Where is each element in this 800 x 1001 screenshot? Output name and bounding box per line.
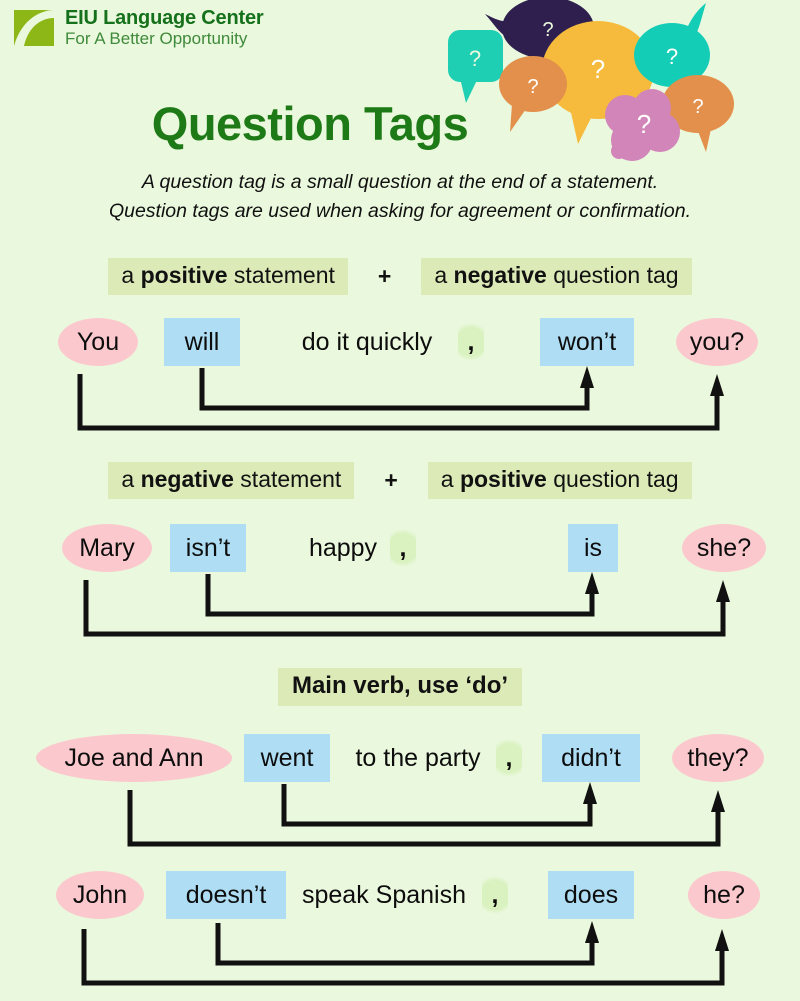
- rule-2-left-strong: negative: [141, 466, 234, 492]
- example-4-tag-verb: does: [548, 871, 634, 919]
- example-3-auxiliary: went: [244, 734, 330, 782]
- speech-bubble-teal-right: ?: [634, 3, 710, 87]
- speech-bubble-navy: ?: [485, 0, 594, 59]
- svg-text:?: ?: [591, 54, 605, 84]
- brand-logo: EIU Language Center For A Better Opportu…: [12, 6, 263, 50]
- example-joe-and-ann-went: Joe and Ann went to the party , didn’t t…: [0, 734, 800, 782]
- rule-1-right-strong: negative: [454, 262, 547, 288]
- example-john-doesnt: John doesn’t speak Spanish , does he?: [0, 871, 800, 919]
- example-1-tag-verb: won’t: [540, 318, 634, 366]
- rule-1-plus: +: [378, 263, 391, 290]
- example-2-comma: ,: [390, 524, 416, 572]
- example-1-tag-subject: you?: [676, 318, 758, 366]
- rule-2-right-strong: positive: [460, 466, 547, 492]
- rule-2-left-suffix: statement: [234, 466, 341, 492]
- example-3-tag-verb: didn’t: [542, 734, 640, 782]
- svg-text:?: ?: [692, 96, 703, 118]
- example-2-connectors: [0, 572, 800, 652]
- example-2-auxiliary: isn’t: [170, 524, 246, 572]
- example-4-comma: ,: [482, 871, 508, 919]
- rule-1-right-suffix: question tag: [547, 262, 679, 288]
- example-mary-isnt: Mary isn’t happy , is she?: [0, 524, 800, 572]
- example-3-tag-subject: they?: [672, 734, 764, 782]
- rule-1-left-suffix: statement: [228, 262, 335, 288]
- example-2-tag-verb: is: [568, 524, 618, 572]
- section-heading-main-verb: Main verb, use ‘do’: [0, 668, 800, 706]
- rule-positive-negative: a positive statement + a negative questi…: [0, 258, 800, 295]
- example-1-auxiliary: will: [164, 318, 240, 366]
- speech-bubble-teal-square: ?: [448, 30, 503, 103]
- rule-2-left-chip: a negative statement: [108, 462, 354, 499]
- rule-1-left-strong: positive: [141, 262, 228, 288]
- example-1-connectors: [0, 366, 800, 446]
- example-1-subject: You: [58, 318, 138, 366]
- example-4-predicate: speak Spanish: [286, 871, 482, 919]
- brand-tagline: For A Better Opportunity: [65, 30, 263, 48]
- page-subtitle: A question tag is a small question at th…: [0, 168, 800, 225]
- example-4-subject: John: [56, 871, 144, 919]
- rule-1-left-prefix: a: [121, 262, 140, 288]
- arch-logo-icon: [12, 6, 56, 50]
- example-2-tag-subject: she?: [682, 524, 766, 572]
- example-4-connectors: [0, 919, 800, 1001]
- svg-text:?: ?: [666, 44, 678, 69]
- svg-text:?: ?: [527, 76, 538, 98]
- svg-text:?: ?: [469, 46, 481, 71]
- example-1-comma: ,: [458, 318, 484, 366]
- rule-2-right-suffix: question tag: [547, 466, 679, 492]
- example-4-tag-subject: he?: [688, 871, 760, 919]
- rule-2-right-prefix: a: [441, 466, 460, 492]
- example-3-comma: ,: [496, 734, 522, 782]
- rule-1-right-prefix: a: [434, 262, 453, 288]
- subtitle-line-2: Question tags are used when asking for a…: [0, 197, 800, 226]
- rule-1-left-chip: a positive statement: [108, 258, 348, 295]
- svg-text:?: ?: [542, 19, 553, 41]
- rule-2-left-prefix: a: [121, 466, 140, 492]
- example-you-will: You will do it quickly , won’t you?: [0, 318, 800, 366]
- example-1-predicate: do it quickly: [282, 318, 452, 366]
- rule-negative-positive: a negative statement + a positive questi…: [0, 462, 800, 499]
- example-3-connectors: [0, 782, 800, 862]
- example-4-auxiliary: doesn’t: [166, 871, 286, 919]
- brand-name: EIU Language Center: [65, 8, 263, 29]
- page-title: Question Tags: [0, 96, 620, 151]
- example-3-subject: Joe and Ann: [36, 734, 232, 782]
- example-3-predicate: to the party: [336, 734, 500, 782]
- rule-1-right-chip: a negative question tag: [421, 258, 691, 295]
- example-2-predicate: happy: [290, 524, 396, 572]
- subtitle-line-1: A question tag is a small question at th…: [0, 168, 800, 197]
- speech-bubble-orange-right: ?: [662, 75, 734, 152]
- rule-2-plus: +: [384, 467, 397, 494]
- section-heading-label: Main verb, use ‘do’: [278, 668, 522, 706]
- svg-text:?: ?: [637, 109, 651, 139]
- rule-2-right-chip: a positive question tag: [428, 462, 692, 499]
- example-2-subject: Mary: [62, 524, 152, 572]
